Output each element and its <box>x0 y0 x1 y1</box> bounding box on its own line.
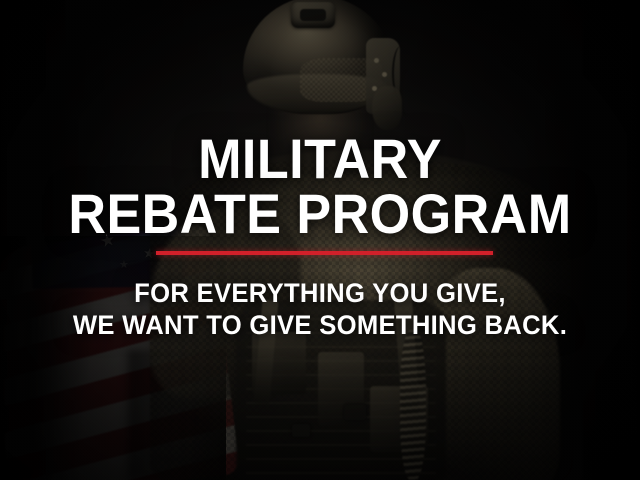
military-rebate-banner: ★ ★ ★ <box>0 0 640 480</box>
headline-line-1: MILITARY <box>22 131 617 187</box>
subhead-line-2: WE WANT TO GIVE SOMETHING BACK. <box>16 310 624 341</box>
red-divider-rule <box>156 251 493 255</box>
subhead-line-1: FOR EVERYTHING YOU GIVE, <box>16 278 624 309</box>
text-overlay: MILITARY REBATE PROGRAM FOR EVERYTHING Y… <box>0 0 640 480</box>
headline-line-2: REBATE PROGRAM <box>22 186 617 242</box>
